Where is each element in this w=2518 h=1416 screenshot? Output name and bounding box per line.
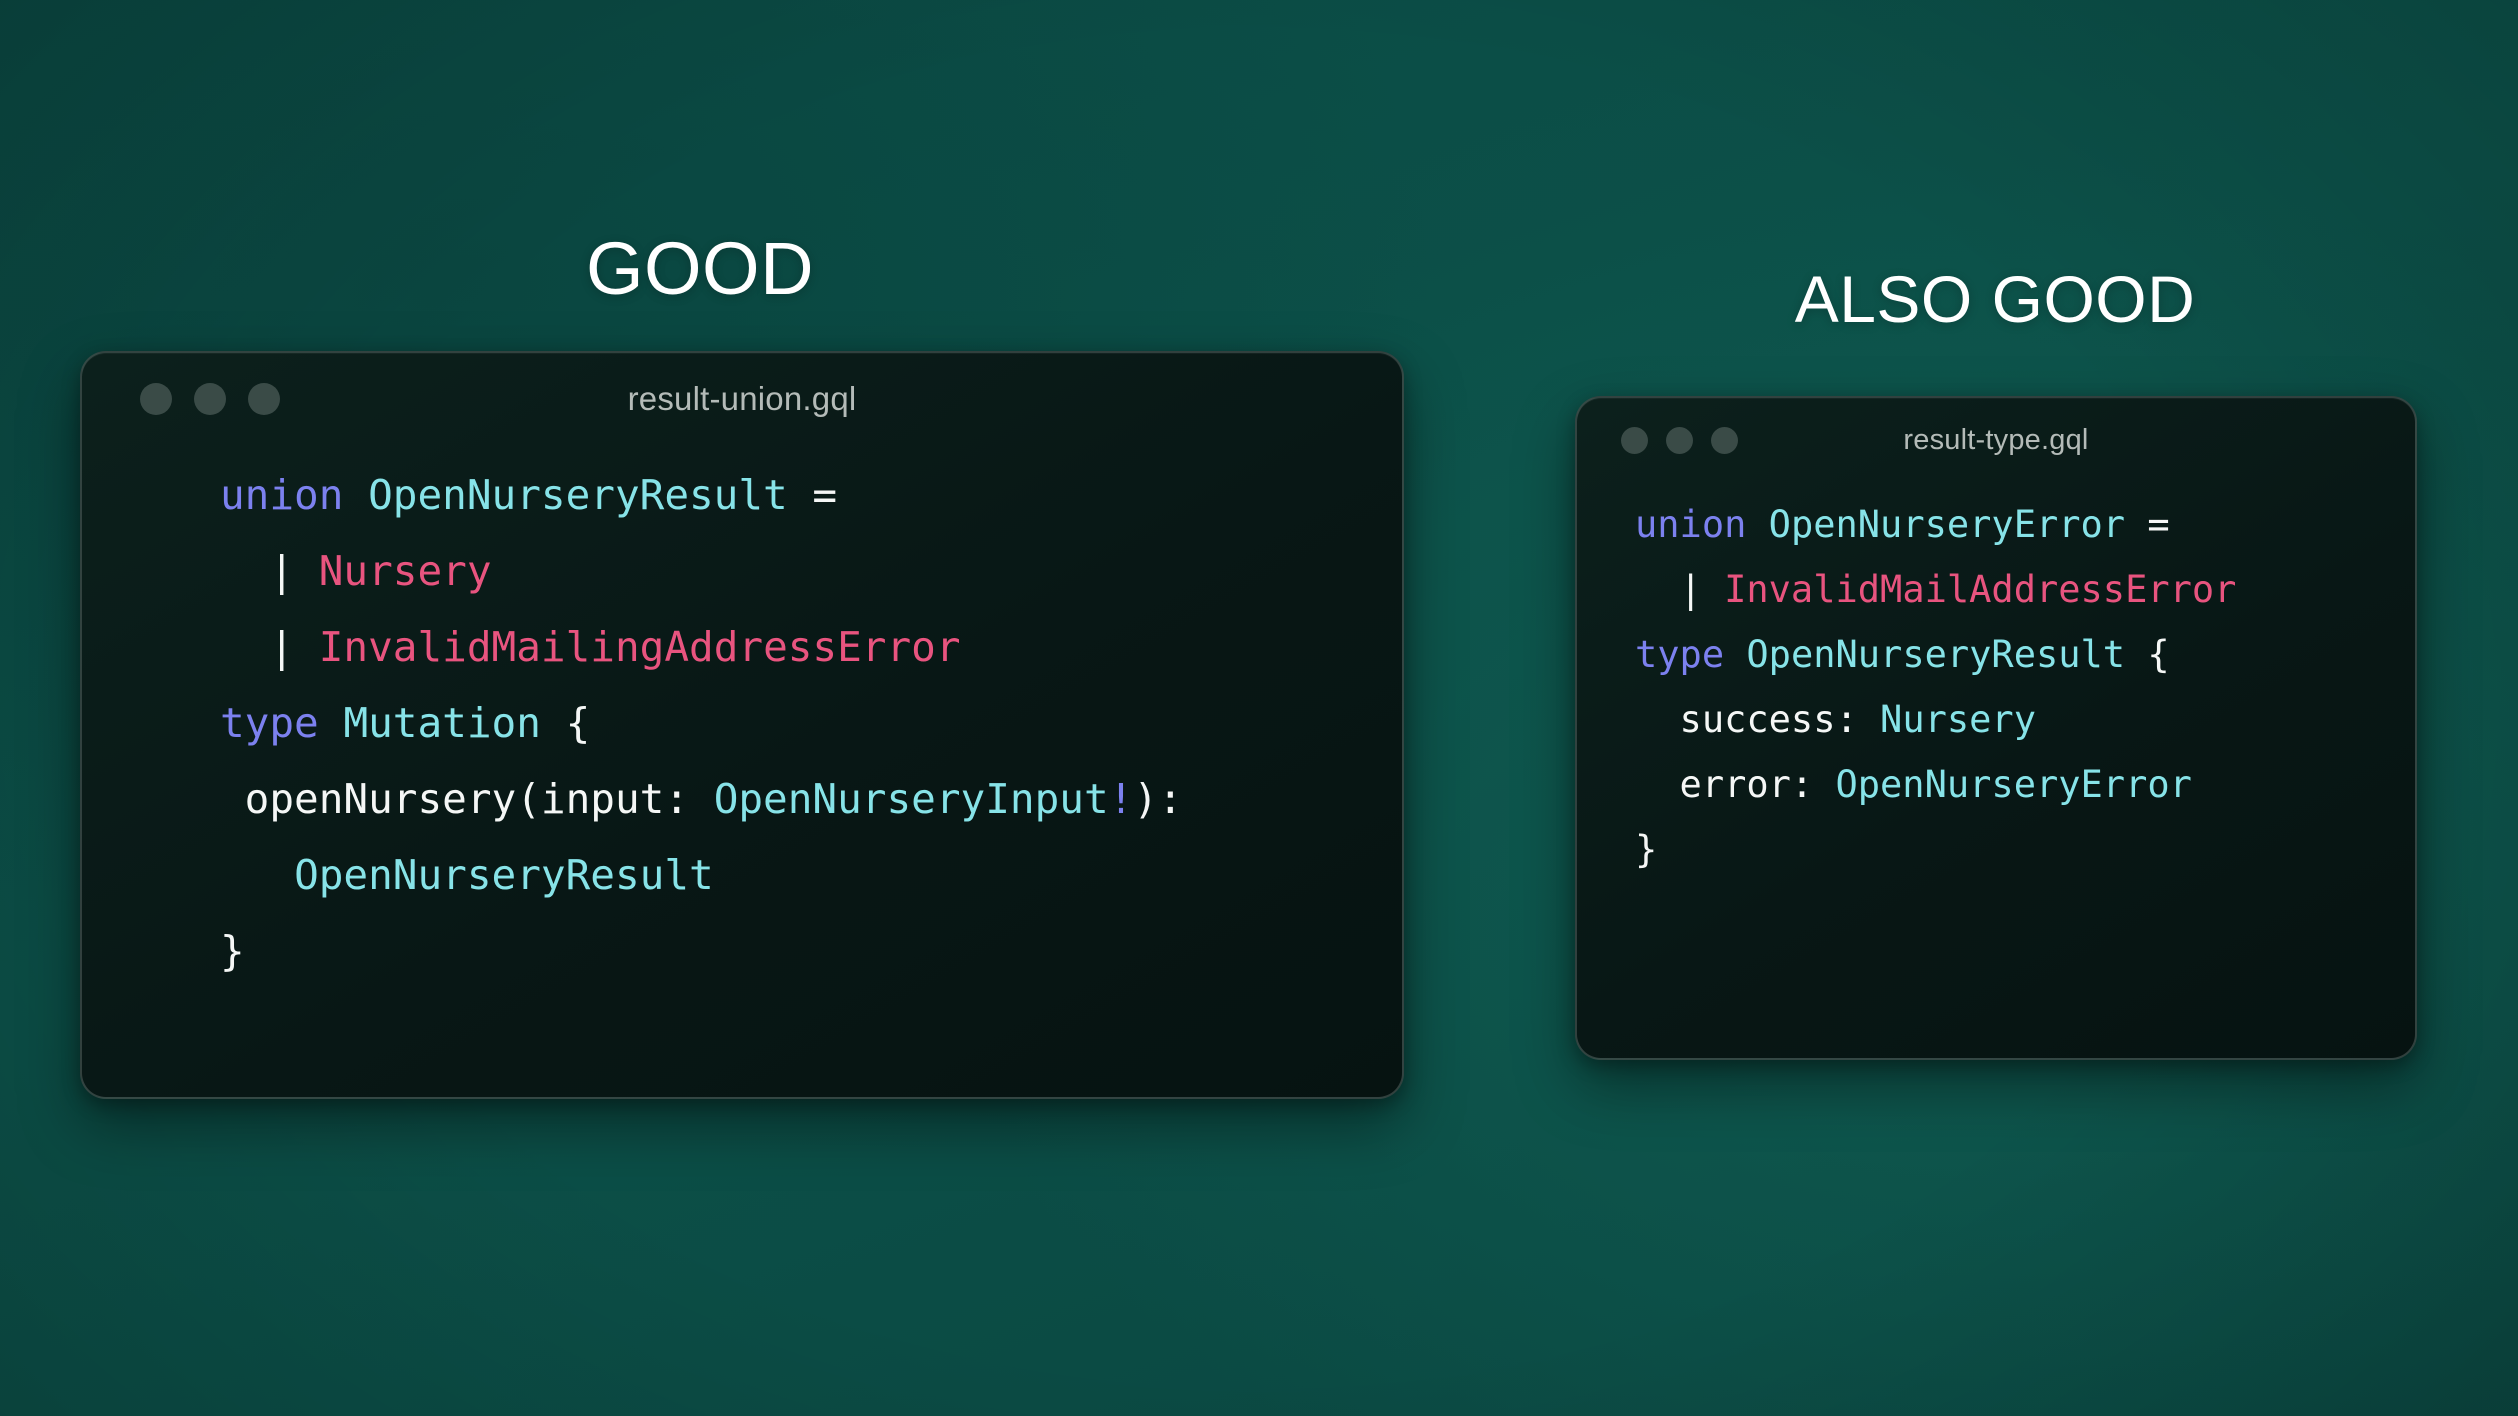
code-token xyxy=(319,699,344,747)
window-controls[interactable] xyxy=(1621,427,1738,454)
code-card-good: result-union.gql union OpenNurseryResult… xyxy=(80,351,1404,1099)
code-block-also-good: union OpenNurseryError = | InvalidMailAd… xyxy=(1577,482,2415,882)
code-line: } xyxy=(220,913,1402,989)
code-token: union xyxy=(220,471,343,519)
code-token: } xyxy=(220,927,245,975)
code-token: = xyxy=(788,471,862,519)
code-block-good: union OpenNurseryResult = | Nursery | In… xyxy=(82,445,1402,989)
code-card-titlebar: result-type.gql xyxy=(1577,398,2415,482)
window-maximize-dot-icon[interactable] xyxy=(248,383,280,415)
code-line: union OpenNurseryResult = xyxy=(220,457,1402,533)
window-maximize-dot-icon[interactable] xyxy=(1711,427,1738,454)
code-card-titlebar: result-union.gql xyxy=(82,353,1402,445)
window-controls[interactable] xyxy=(140,383,280,415)
code-token: success: xyxy=(1635,698,1880,741)
code-token: OpenNurseryError xyxy=(1769,503,2125,546)
code-token: = xyxy=(2125,503,2192,546)
window-close-dot-icon[interactable] xyxy=(140,383,172,415)
code-token: | xyxy=(220,623,319,671)
window-close-dot-icon[interactable] xyxy=(1621,427,1648,454)
code-token: InvalidMailingAddressError xyxy=(319,623,961,671)
code-token: OpenNurseryResult xyxy=(1746,633,2125,676)
code-token: { xyxy=(541,699,590,747)
window-minimize-dot-icon[interactable] xyxy=(1666,427,1693,454)
code-line: success: Nursery xyxy=(1635,687,2415,752)
code-token: ): xyxy=(1133,775,1182,823)
window-minimize-dot-icon[interactable] xyxy=(194,383,226,415)
code-token: | xyxy=(220,547,319,595)
code-token: union xyxy=(1635,503,1746,546)
code-line: union OpenNurseryError = xyxy=(1635,492,2415,557)
panel-heading-good: GOOD xyxy=(0,232,1400,306)
code-line: type OpenNurseryResult { xyxy=(1635,622,2415,687)
code-token xyxy=(1746,503,1768,546)
code-token xyxy=(343,471,368,519)
code-token: error: xyxy=(1635,763,1835,806)
code-line: | InvalidMailAddressError xyxy=(1635,557,2415,622)
code-token: OpenNurseryResult xyxy=(294,851,714,899)
code-token: { xyxy=(2125,633,2170,676)
code-token: OpenNurseryInput xyxy=(714,775,1109,823)
code-token: InvalidMailAddressError xyxy=(1724,568,2236,611)
code-token: Nursery xyxy=(319,547,492,595)
code-token xyxy=(220,851,294,899)
code-token: type xyxy=(220,699,319,747)
code-token: Nursery xyxy=(1880,698,2036,741)
code-line: error: OpenNurseryError xyxy=(1635,752,2415,817)
code-line: } xyxy=(1635,817,2415,882)
code-token: OpenNurseryResult xyxy=(368,471,788,519)
code-token: openNursery(input: xyxy=(220,775,714,823)
panel-heading-also-good: ALSO GOOD xyxy=(1575,266,2415,332)
code-token: Mutation xyxy=(343,699,540,747)
code-token: OpenNurseryError xyxy=(1835,763,2191,806)
code-token: } xyxy=(1635,828,1657,871)
code-card-also-good: result-type.gql union OpenNurseryError =… xyxy=(1575,396,2417,1060)
code-token: type xyxy=(1635,633,1724,676)
code-line: | InvalidMailingAddressError xyxy=(220,609,1402,685)
code-token: | xyxy=(1635,568,1724,611)
code-line: openNursery(input: OpenNurseryInput!): xyxy=(220,761,1402,837)
code-token: ! xyxy=(1109,775,1134,823)
code-line: OpenNurseryResult xyxy=(220,837,1402,913)
code-token xyxy=(1724,633,1746,676)
code-line: type Mutation { xyxy=(220,685,1402,761)
code-line: | Nursery xyxy=(220,533,1402,609)
code-card-filename: result-union.gql xyxy=(82,380,1402,418)
